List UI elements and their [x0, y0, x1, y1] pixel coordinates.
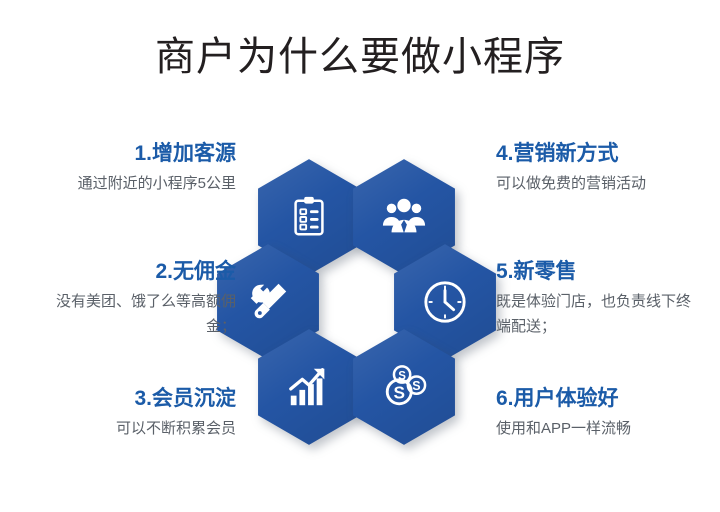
money-coins-icon: S S S: [352, 328, 456, 446]
feature-desc-5: 既是体验门店，也负责线下终端配送；: [496, 289, 704, 339]
svg-text:S: S: [412, 379, 420, 393]
feature-item-4: 4.营销新方式 可以做免费的营销活动: [496, 140, 704, 196]
feature-desc-3: 可以不断积累会员: [28, 416, 236, 441]
feature-item-5: 5.新零售 既是体验门店，也负责线下终端配送；: [496, 258, 704, 339]
page-title: 商户为什么要做小程序: [0, 30, 720, 84]
feature-desc-1: 通过附近的小程序5公里: [28, 171, 236, 196]
feature-desc-6: 使用和APP一样流畅: [496, 416, 704, 441]
feature-title-4: 4.营销新方式: [496, 140, 704, 168]
hexagon-bottom-left[interactable]: [257, 328, 361, 446]
feature-title-5: 5.新零售: [496, 258, 704, 286]
feature-desc-4: 可以做免费的营销活动: [496, 171, 704, 196]
feature-title-2: 2.无佣金: [28, 258, 236, 286]
feature-item-1: 1.增加客源 通过附近的小程序5公里: [28, 140, 236, 196]
svg-text:S: S: [393, 383, 405, 403]
feature-title-6: 6.用户体验好: [496, 385, 704, 413]
feature-title-3: 3.会员沉淀: [28, 385, 236, 413]
hexagon-bottom-right[interactable]: S S S: [352, 328, 456, 446]
feature-title-1: 1.增加客源: [28, 140, 236, 168]
growth-chart-icon: [257, 328, 361, 446]
feature-item-3: 3.会员沉淀 可以不断积累会员: [28, 385, 236, 441]
hexagon-cluster: S S S: [216, 158, 496, 448]
feature-item-2: 2.无佣金 没有美团、饿了么等高额佣金；: [28, 258, 236, 339]
feature-desc-2: 没有美团、饿了么等高额佣金；: [28, 289, 236, 339]
feature-item-6: 6.用户体验好 使用和APP一样流畅: [496, 385, 704, 441]
infographic-page: 商户为什么要做小程序: [0, 0, 720, 512]
